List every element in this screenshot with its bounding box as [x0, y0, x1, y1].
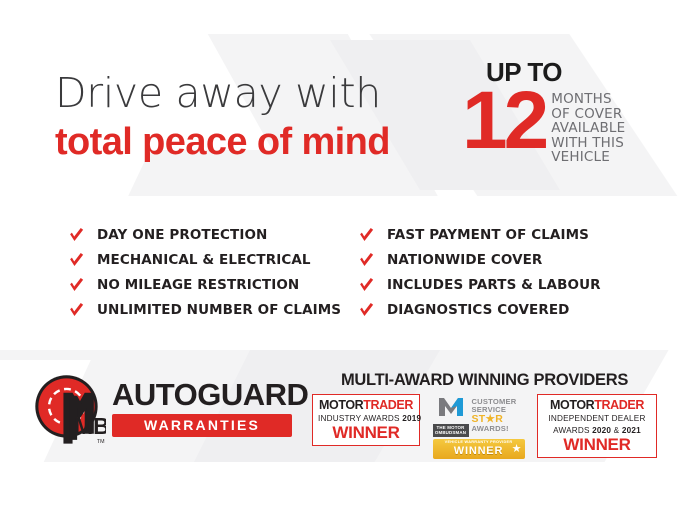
badge-year: 2019	[402, 414, 421, 423]
star-icon: ★	[512, 444, 522, 455]
months-detail-line: VEHICLE	[551, 150, 625, 165]
awards-section: MULTI-AWARD WINNING PROVIDERS MOTORTRADE…	[312, 370, 657, 459]
headline-line-1: Drive away with	[55, 70, 455, 116]
hero-headline-block: Drive away with total peace of mind	[55, 70, 455, 164]
feature-column-right: FAST PAYMENT OF CLAIMS NATIONWIDE COVER …	[358, 224, 658, 321]
check-icon	[68, 252, 85, 269]
badge-brand-part-1: MOTOR	[550, 398, 594, 412]
check-icon	[358, 277, 375, 294]
months-detail-line: MONTHS	[551, 92, 625, 107]
feature-label: NATIONWIDE COVER	[387, 252, 542, 268]
months-detail-text: MONTHS OF COVER AVAILABLE WITH THIS VEHI…	[551, 92, 625, 165]
check-icon	[68, 227, 85, 244]
background-band-gap	[0, 328, 680, 350]
awards-title: MULTI-AWARD WINNING PROVIDERS	[312, 370, 657, 390]
award-badge-motortrader-2020-2021: MOTORTRADER INDEPENDENT DEALER AWARDS 20…	[537, 394, 657, 458]
cover-duration-block: UP TO 12 MONTHS OF COVER AVAILABLE WITH …	[462, 58, 642, 165]
feature-item: NATIONWIDE COVER	[358, 249, 658, 271]
badge-year-joiner: &	[614, 426, 620, 435]
check-icon	[358, 302, 375, 319]
feature-item: FAST PAYMENT OF CLAIMS	[358, 224, 658, 246]
award-badge-motortrader-2019: MOTORTRADER INDUSTRY AWARDS 2019 WINNER	[312, 394, 420, 446]
months-detail-line: WITH THIS	[551, 136, 625, 151]
check-icon	[358, 227, 375, 244]
check-icon	[68, 277, 85, 294]
ombudsman-mark-icon	[436, 394, 466, 418]
feature-item: MECHANICAL & ELECTRICAL	[68, 249, 358, 271]
autoguard-wordmark: AUTOGUARD	[112, 378, 292, 411]
feature-label: INCLUDES PARTS & LABOUR	[387, 277, 601, 293]
badge-year-2: 2021	[622, 426, 641, 435]
feature-item: DIAGNOSTICS COVERED	[358, 299, 658, 321]
badge-brand-part-1: MOTOR	[319, 398, 363, 412]
promo-banner: Drive away with total peace of mind UP T…	[0, 0, 680, 510]
badge-subtitle-text: INDUSTRY AWARDS	[318, 414, 400, 423]
background-band-top	[0, 0, 680, 34]
check-icon	[68, 302, 85, 319]
customer-service-star-text: CUSTOMER SERVICE ST★R AWARDS!	[472, 398, 525, 434]
months-detail-line: OF COVER	[551, 107, 625, 122]
award-badge-list: MOTORTRADER INDUSTRY AWARDS 2019 WINNER	[312, 394, 657, 459]
badge-year-1: 2020	[592, 426, 611, 435]
badge-years-prefix: AWARDS	[553, 426, 590, 435]
award-badge-customer-service-star: THE MOTOR OMBUDSMAN CUSTOMER SERVICE ST★…	[433, 394, 525, 459]
feature-label: NO MILEAGE RESTRICTION	[97, 277, 299, 293]
autoguard-subtitle: WARRANTIES	[112, 414, 292, 437]
check-icon	[358, 252, 375, 269]
feature-item: DAY ONE PROTECTION	[68, 224, 358, 246]
motor-ombudsman-logo: THE MOTOR OMBUDSMAN	[433, 394, 469, 437]
background-band-hero-gap	[0, 196, 680, 210]
feature-item: UNLIMITED NUMBER OF CLAIMS	[68, 299, 358, 321]
badge-subtitle: INDEPENDENT DEALER	[543, 413, 651, 424]
badge-brand-part-2: TRADER	[594, 398, 644, 412]
ombudsman-caption: THE MOTOR OMBUDSMAN	[433, 424, 469, 437]
feature-list: DAY ONE PROTECTION MECHANICAL & ELECTRIC…	[0, 224, 680, 321]
svg-text:TM: TM	[97, 439, 105, 445]
feature-label: MECHANICAL & ELECTRICAL	[97, 252, 311, 268]
months-number: 12	[462, 84, 545, 158]
badge-brand: MOTORTRADER	[318, 399, 414, 412]
badge-brand: MOTORTRADER	[543, 399, 651, 412]
footer-logo-row: MBi TM AUTOGUARD WARRANTIES MULTI-AWARD …	[0, 370, 680, 456]
feature-label: DAY ONE PROTECTION	[97, 227, 267, 243]
autoguard-logo: AUTOGUARD WARRANTIES	[112, 378, 292, 437]
headline-line-2: total peace of mind	[55, 120, 455, 164]
feature-label: DIAGNOSTICS COVERED	[387, 302, 569, 318]
badge-ribbon: VEHICLE WARRANTY PROVIDER WINNER ★	[433, 439, 525, 459]
feature-column-left: DAY ONE PROTECTION MECHANICAL & ELECTRIC…	[68, 224, 358, 321]
feature-label: FAST PAYMENT OF CLAIMS	[387, 227, 589, 243]
months-detail-line: AVAILABLE	[551, 121, 625, 136]
mbi-logo: MBi TM	[30, 372, 106, 450]
feature-item: NO MILEAGE RESTRICTION	[68, 274, 358, 296]
feature-item: INCLUDES PARTS & LABOUR	[358, 274, 658, 296]
feature-label: UNLIMITED NUMBER OF CLAIMS	[97, 302, 341, 318]
css-line-4: AWARDS!	[472, 425, 525, 433]
badge-result: WINNER	[543, 436, 651, 454]
badge-result: WINNER	[318, 424, 414, 442]
badge-brand-part-2: TRADER	[363, 398, 413, 412]
svg-text:MBi: MBi	[74, 413, 106, 439]
background-band-footer	[0, 462, 680, 510]
